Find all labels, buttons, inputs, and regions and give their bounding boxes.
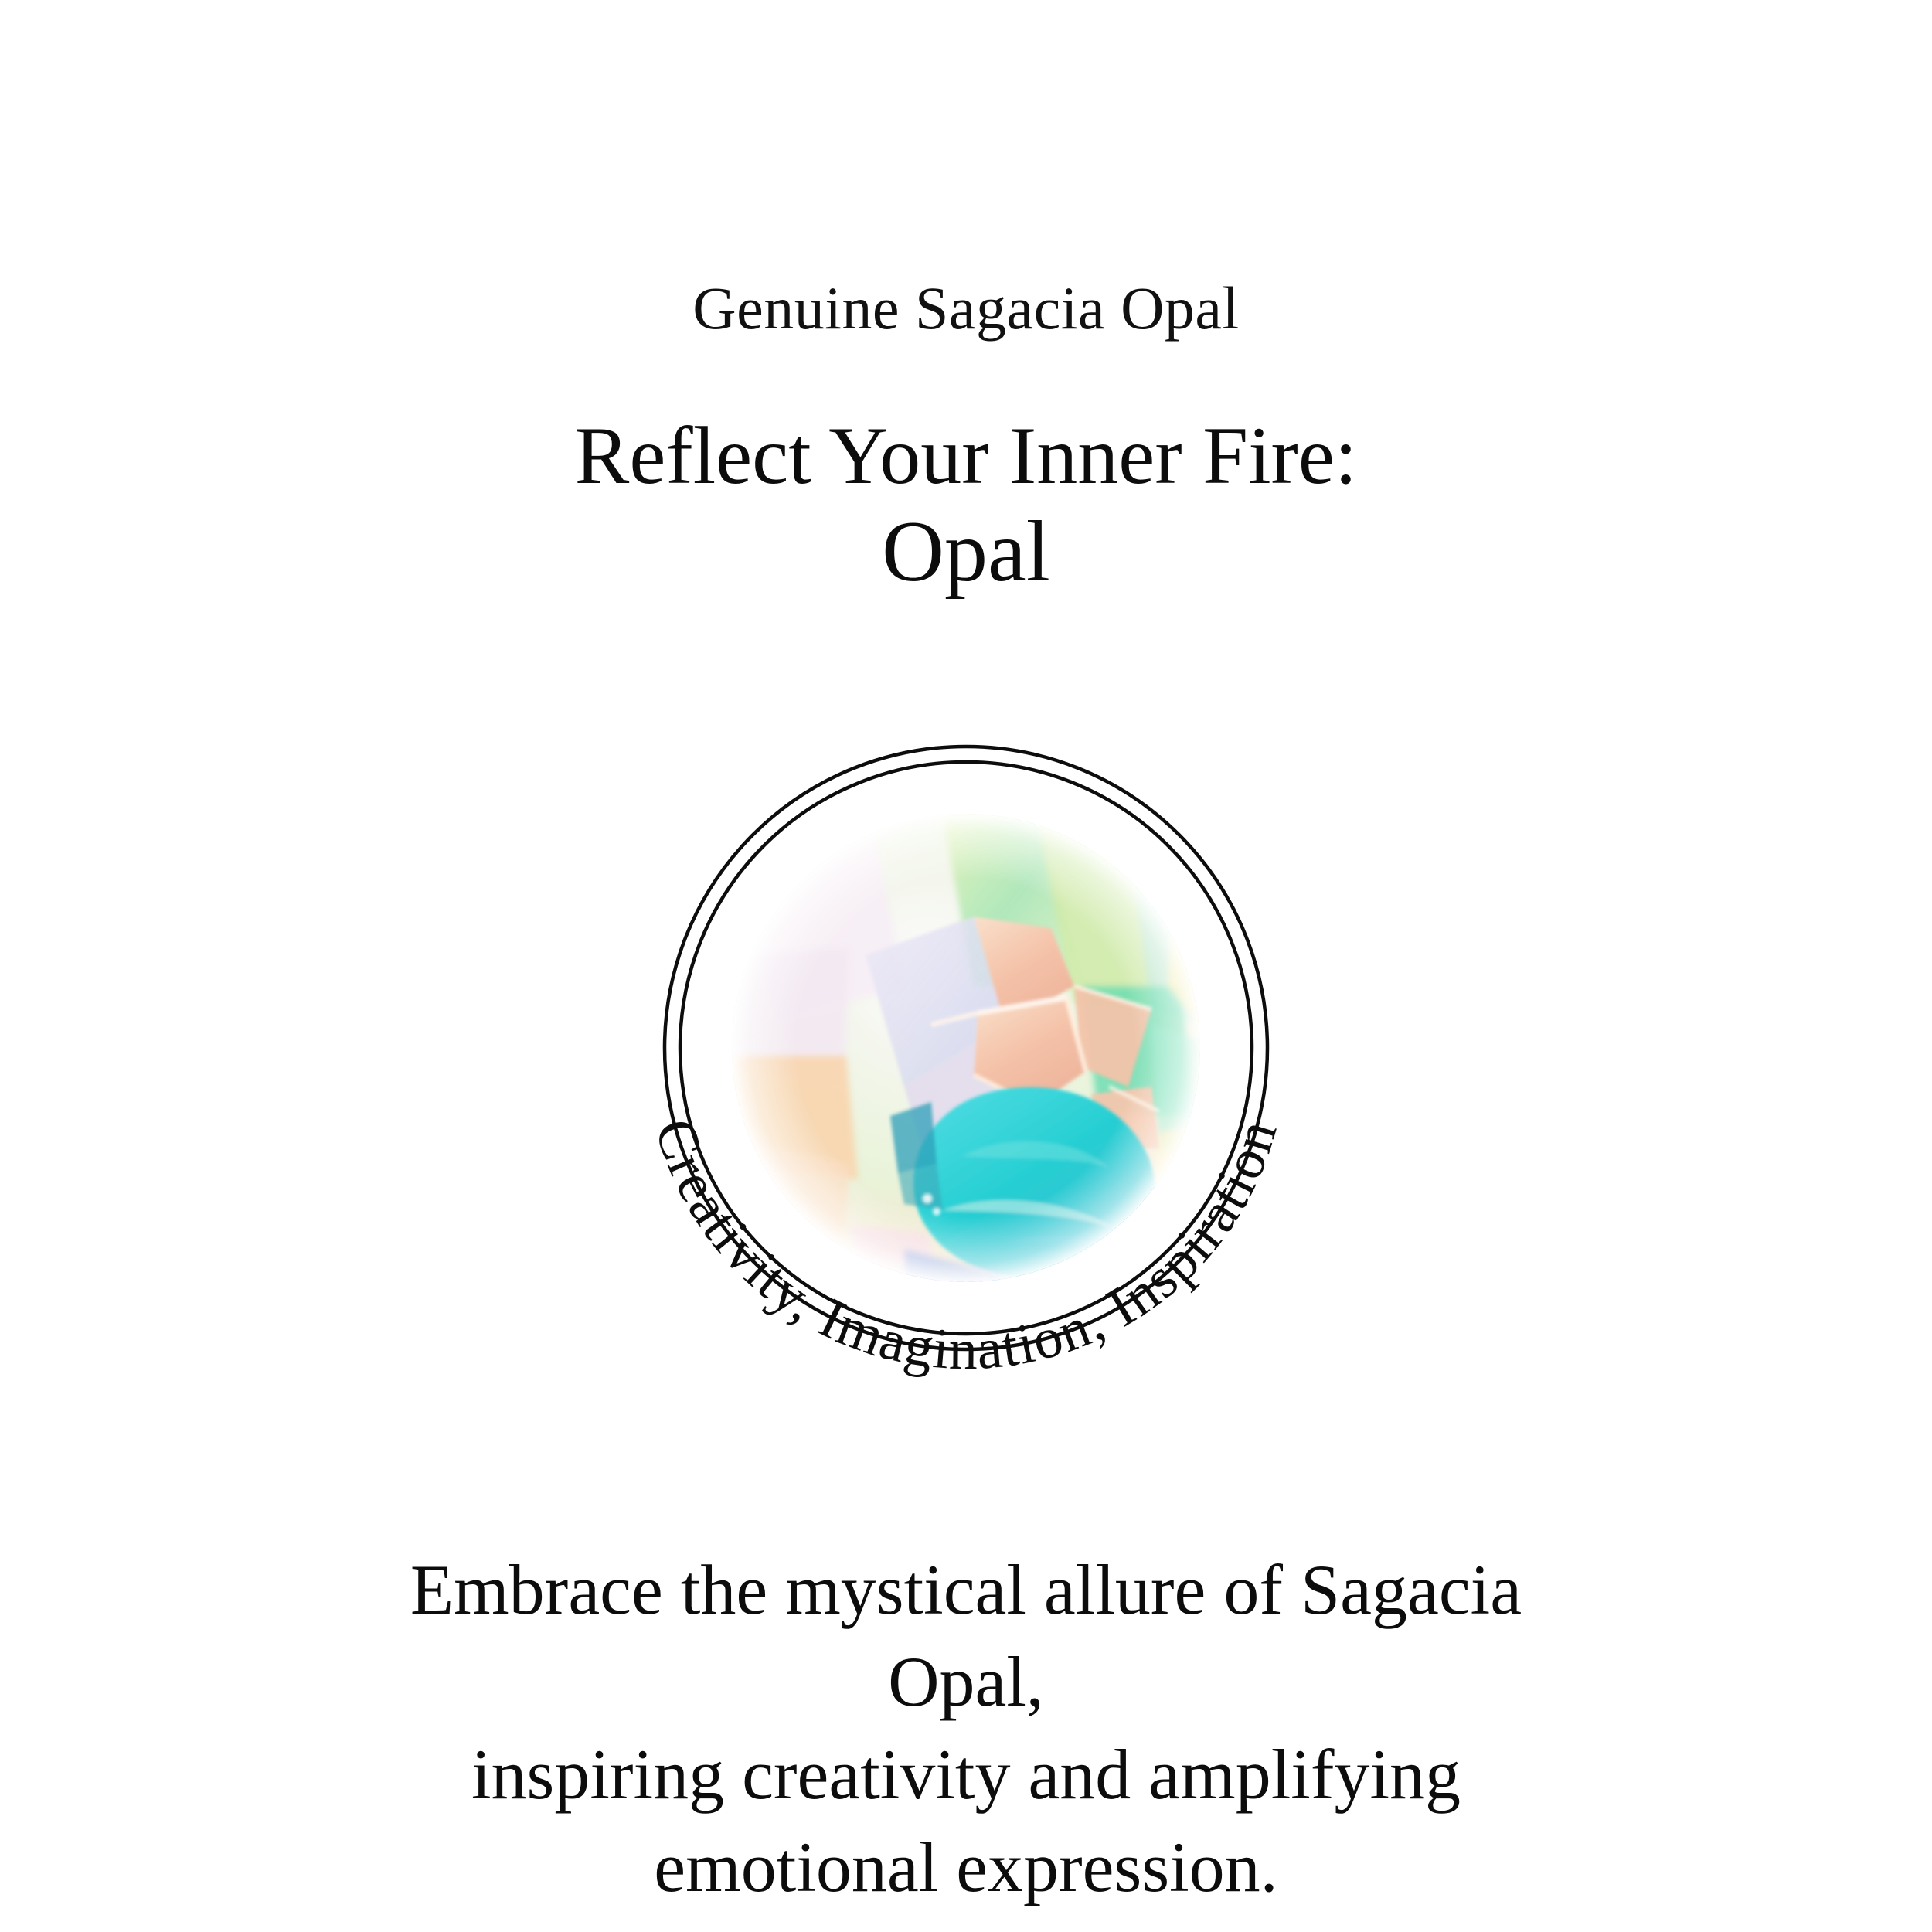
gemstone-badge: Creativity, Imagination, Inspiration xyxy=(541,623,1391,1473)
description-paragraph: Embrace the mystical allure of Sagacia O… xyxy=(332,1544,1600,1913)
description-line-2: inspiring creativity and amplifying xyxy=(332,1729,1600,1821)
eyebrow-text: Genuine Sagacia Opal xyxy=(692,278,1239,338)
headline-line-2: Opal xyxy=(575,504,1358,600)
headline-line-1: Reflect Your Inner Fire: xyxy=(575,413,1358,499)
product-card: Genuine Sagacia Opal Reflect Your Inner … xyxy=(0,0,1932,1932)
description-line-1: Embrace the mystical allure of Sagacia O… xyxy=(332,1544,1600,1729)
page-title: Reflect Your Inner Fire: Opal xyxy=(575,413,1358,601)
description-line-3: emotional expression. xyxy=(332,1821,1600,1914)
